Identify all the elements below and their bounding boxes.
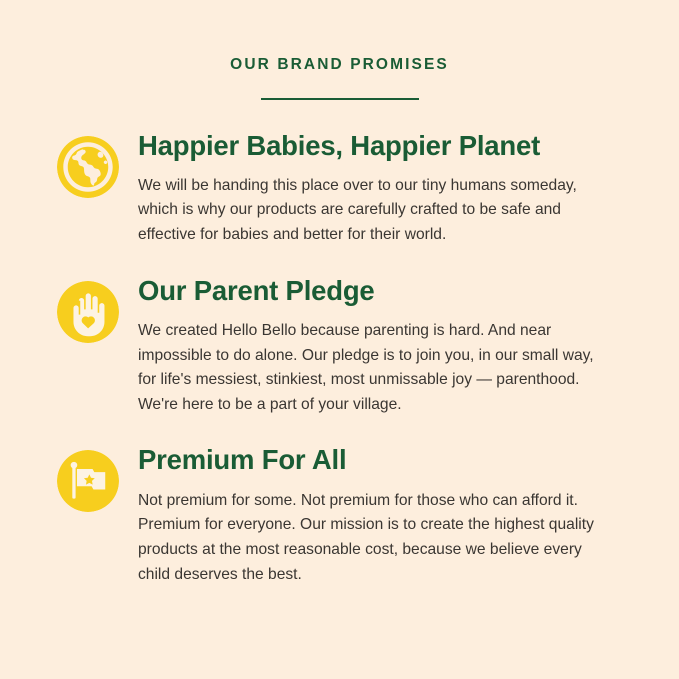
promise-icon-container — [57, 276, 124, 343]
promise-icon-container — [57, 445, 124, 512]
list-item: Our Parent Pledge We created Hello Bello… — [57, 276, 629, 418]
divider — [0, 98, 679, 100]
hand-heart-icon — [57, 281, 119, 343]
list-item: Premium For All Not premium for some. No… — [57, 445, 629, 587]
flag-star-icon — [57, 450, 119, 512]
promise-text-container: Happier Babies, Happier Planet We will b… — [124, 131, 629, 248]
promise-title: Our Parent Pledge — [138, 276, 629, 306]
promise-body: We will be handing this place over to ou… — [138, 174, 616, 248]
promise-body: Not premium for some. Not premium for th… — [138, 489, 616, 588]
globe-icon — [57, 136, 119, 198]
brand-promises-page: OUR BRAND PROMISES Happier Babies, Happi… — [0, 0, 679, 679]
promise-body: We created Hello Bello because parenting… — [138, 319, 616, 418]
promise-text-container: Our Parent Pledge We created Hello Bello… — [124, 276, 629, 418]
list-item: Happier Babies, Happier Planet We will b… — [57, 131, 629, 248]
divider-line — [261, 98, 419, 100]
page-header: OUR BRAND PROMISES — [0, 0, 679, 100]
promise-list: Happier Babies, Happier Planet We will b… — [0, 131, 679, 588]
promise-icon-container — [57, 131, 124, 198]
promise-title: Premium For All — [138, 445, 629, 475]
promise-text-container: Premium For All Not premium for some. No… — [124, 445, 629, 587]
promise-title: Happier Babies, Happier Planet — [138, 131, 629, 161]
page-title: OUR BRAND PROMISES — [0, 57, 679, 73]
